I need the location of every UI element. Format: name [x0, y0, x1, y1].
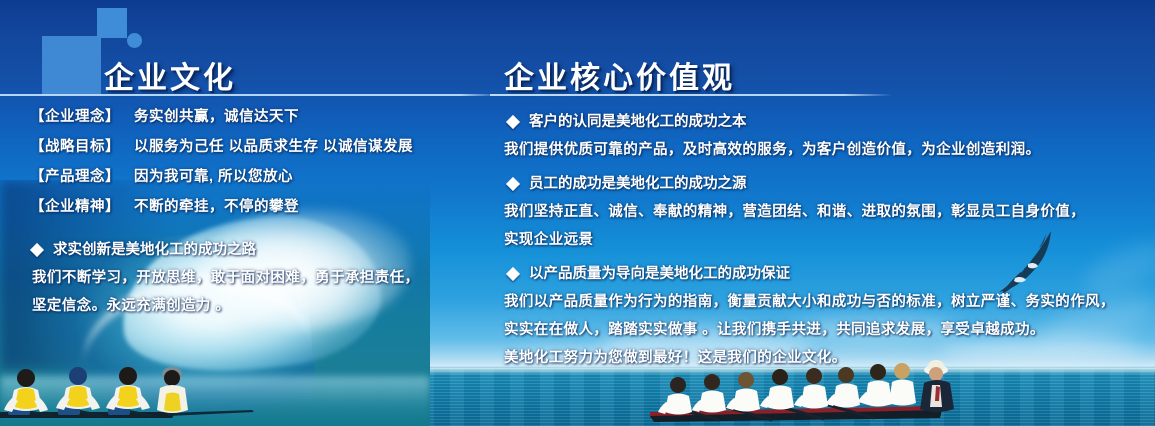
page-title-left: 企业文化: [104, 53, 236, 97]
section-paragraph: 实现企业远景: [490, 226, 1150, 254]
divider-left: [0, 94, 500, 96]
section-heading-text: 客户的认同是美地化工的成功之本: [529, 108, 747, 136]
diamond-bullet-icon: [30, 243, 44, 257]
culture-entry-value: 务实创共赢，诚信达天下: [134, 102, 299, 132]
culture-entry-key: 【企业精神】: [30, 192, 134, 222]
section-heading: 求实创新是美地化工的成功之路: [32, 236, 470, 264]
section-heading-text: 员工的成功是美地化工的成功之源: [529, 170, 747, 198]
culture-entry-row: 【战略目标】 以服务为己任 以品质求生存 以诚信谋发展: [0, 132, 470, 162]
left-content-column: 【企业理念】 务实创共赢，诚信达天下 【战略目标】 以服务为己任 以品质求生存 …: [0, 102, 470, 320]
value-section: 客户的认同是美地化工的成功之本 我们提供优质可靠的产品，及时高效的服务，为客户创…: [490, 108, 1150, 164]
culture-entry-key: 【战略目标】: [30, 132, 134, 162]
diamond-bullet-icon: [506, 177, 520, 191]
section-paragraph: 实实在在做人，踏踏实实做事 。让我们携手共进，共同追求发展，享受卓越成功。: [490, 316, 1150, 344]
culture-entry-row: 【产品理念】 因为我可靠, 所以您放心: [0, 162, 470, 192]
section-heading: 以产品质量为导向是美地化工的成功保证: [490, 260, 1150, 288]
value-section: 以产品质量为导向是美地化工的成功保证 我们以产品质量作为行为的指南，衡量贡献大小…: [490, 260, 1150, 372]
decor-circle: [127, 33, 142, 48]
decor-square-small: [97, 8, 127, 38]
culture-entry-key: 【企业理念】: [30, 102, 134, 132]
section-paragraph: 我们提供优质可靠的产品，及时高效的服务，为客户创造价值，为企业创造利润。: [490, 136, 1150, 164]
left-section-group: 求实创新是美地化工的成功之路 我们不断学习，开放思维，敢于面对困难，勇于承担责任…: [0, 236, 470, 320]
culture-entry-value: 因为我可靠, 所以您放心: [134, 162, 293, 192]
section-paragraph: 我们以产品质量作为行为的指南，衡量贡献大小和成功与否的标准，树立严谨、务实的作风…: [490, 288, 1150, 316]
section-paragraph: 美地化工努力为您做到最好！这是我们的企业文化。: [490, 344, 1150, 372]
corporate-culture-banner: 企业文化 企业核心价值观 【企业理念】 务实创共赢，诚信达天下 【战略目标】 以…: [0, 0, 1155, 426]
section-heading-text: 以产品质量为导向是美地化工的成功保证: [529, 260, 790, 288]
diamond-bullet-icon: [506, 115, 520, 129]
section-paragraph: 我们不断学习，开放思维，敢于面对困难，勇于承担责任，: [32, 264, 470, 292]
divider-right: [490, 94, 892, 96]
culture-entry-value: 不断的牵挂，不停的攀登: [134, 192, 299, 222]
culture-entry-row: 【企业精神】 不断的牵挂，不停的攀登: [0, 192, 470, 222]
section-heading-text: 求实创新是美地化工的成功之路: [53, 236, 256, 264]
culture-entry-key: 【产品理念】: [30, 162, 134, 192]
culture-entry-row: 【企业理念】 务实创共赢，诚信达天下: [0, 102, 470, 132]
section-heading: 客户的认同是美地化工的成功之本: [490, 108, 1150, 136]
diamond-bullet-icon: [506, 267, 520, 281]
decor-square-large: [42, 36, 101, 95]
section-paragraph: 我们坚持正直、诚信、奉献的精神，营造团结、和谐、进取的氛围，彰显员工自身价值，: [490, 198, 1150, 226]
right-content-column: 客户的认同是美地化工的成功之本 我们提供优质可靠的产品，及时高效的服务，为客户创…: [490, 102, 1150, 372]
section-paragraph: 坚定信念。永远充满创造力 。: [32, 292, 470, 320]
page-title-right: 企业核心价值观: [504, 53, 735, 97]
section-heading: 员工的成功是美地化工的成功之源: [490, 170, 1150, 198]
value-section: 员工的成功是美地化工的成功之源 我们坚持正直、诚信、奉献的精神，营造团结、和谐、…: [490, 170, 1150, 254]
rowing-boat-left: [0, 354, 260, 426]
culture-entry-value: 以服务为己任 以品质求生存 以诚信谋发展: [134, 132, 413, 162]
